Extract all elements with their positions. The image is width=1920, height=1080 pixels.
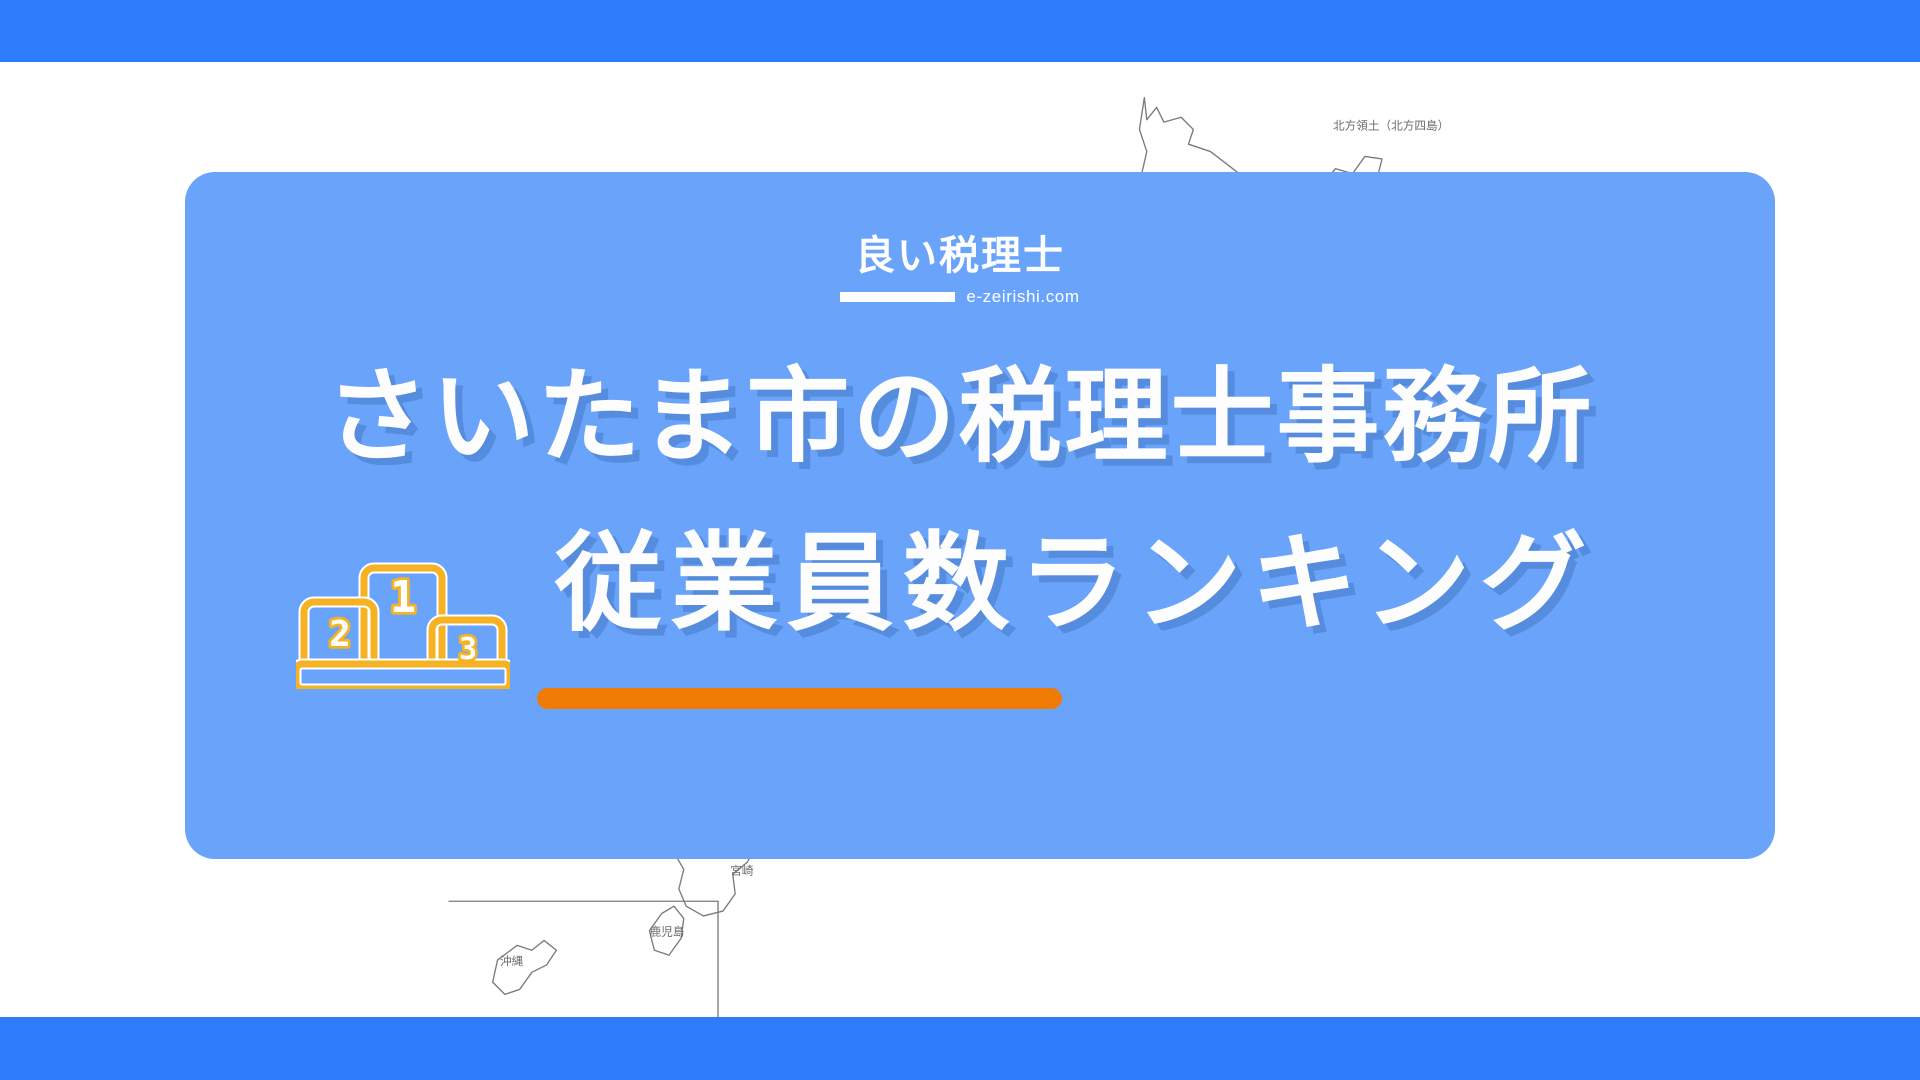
bottom-brand-bar xyxy=(0,1017,1920,1080)
logo-domain-text: e-zeirishi.com xyxy=(966,287,1079,307)
map-label: 鹿児島 xyxy=(649,925,684,939)
map-label: 沖縄 xyxy=(500,954,524,968)
logo-wordmark: 良い税理士 xyxy=(750,236,1170,276)
headline-underline-accent xyxy=(537,688,1062,709)
map-label: 宮崎 xyxy=(730,863,754,877)
podium-rank-1: 1 xyxy=(390,572,417,623)
podium-rank-2: 2 xyxy=(329,614,351,655)
logo-rule-icon xyxy=(840,292,955,302)
site-logo: 良い税理士 e-zeirishi.com xyxy=(750,236,1170,307)
logo-subline: e-zeirishi.com xyxy=(750,287,1170,307)
podium-rank-3: 3 xyxy=(459,632,477,667)
top-brand-bar xyxy=(0,0,1920,62)
podium-ranking-icon: 1 2 3 xyxy=(296,546,510,689)
map-label: 北方領土（北方四島） xyxy=(1333,119,1449,133)
thumbnail-canvas: 北方領土（北方四島）北海道青森秋田岩手山形宮城新潟福島群馬栃木茨城埼玉千葉東京神… xyxy=(0,0,1920,1080)
